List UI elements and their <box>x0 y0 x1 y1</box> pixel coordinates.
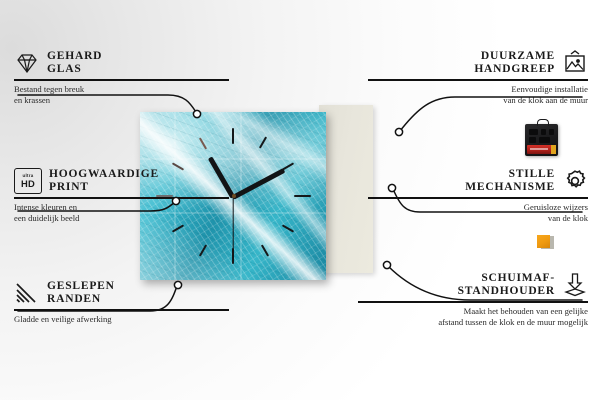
endpoint-dot-print <box>172 197 179 204</box>
connector-stille-mechanisme <box>393 189 582 212</box>
connector-schuimafstandhouder <box>388 266 582 300</box>
connector-lines <box>0 0 600 400</box>
infographic-canvas: GEHARD GLAS Bestand tegen breuk en krass… <box>0 0 600 400</box>
connector-duurzame-handgreep <box>400 97 582 131</box>
endpoint-dot-spacer <box>383 261 390 268</box>
endpoint-dot-edges <box>174 281 181 288</box>
connector-geslepen-randen <box>18 286 177 311</box>
connector-gehard-glas <box>18 95 196 112</box>
endpoint-dot-mechanism <box>388 184 395 191</box>
connector-hoogwaardige-print <box>18 202 175 211</box>
endpoint-dot-handle <box>395 128 402 135</box>
endpoint-dot-glass <box>193 110 200 117</box>
